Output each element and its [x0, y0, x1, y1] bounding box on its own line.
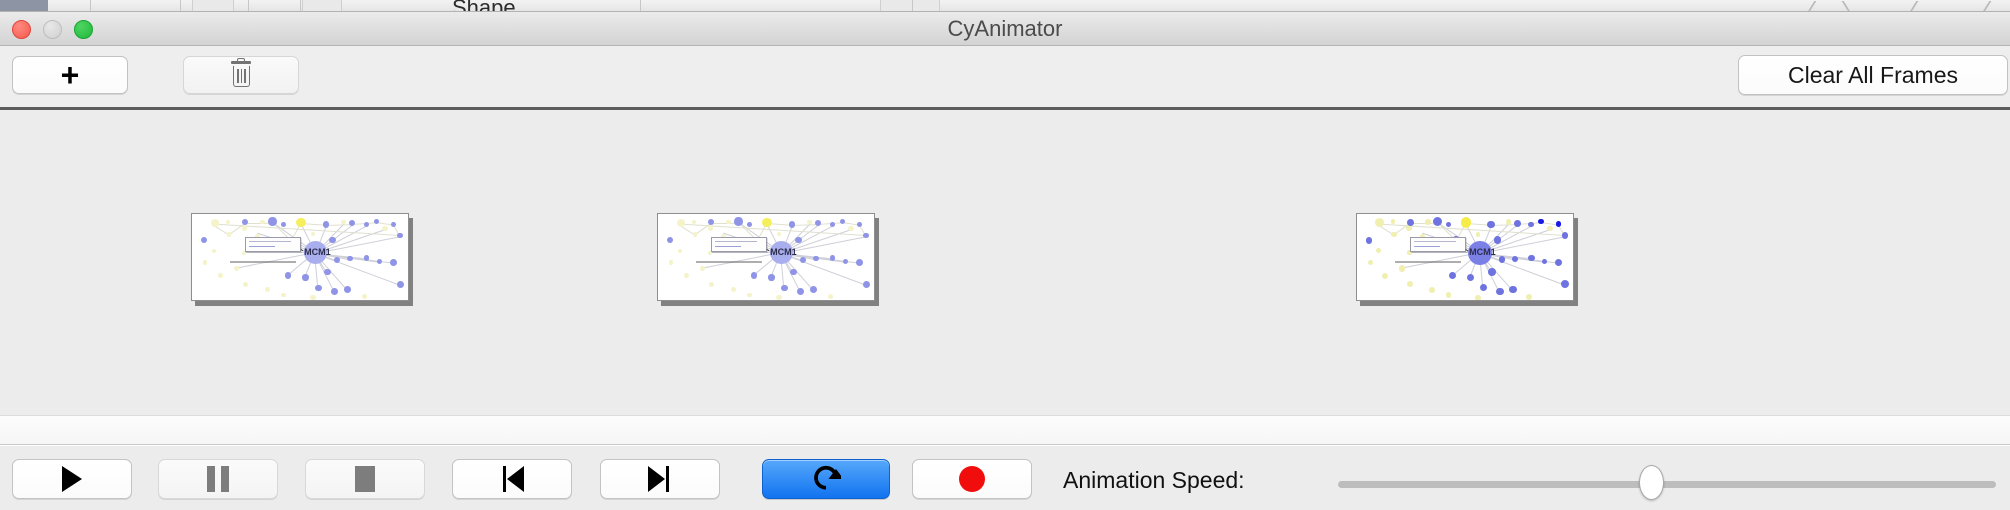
network-node — [677, 219, 685, 227]
network-node — [296, 218, 305, 227]
network-node — [828, 294, 833, 299]
network-node — [1528, 222, 1534, 228]
network-node — [1494, 236, 1502, 244]
network-node — [1366, 237, 1373, 244]
network-node — [1476, 232, 1481, 237]
network-node — [242, 219, 248, 225]
network-node — [1556, 221, 1561, 226]
network-node — [349, 220, 355, 226]
network-hub-label: MCM1 — [770, 247, 797, 257]
skip-previous-icon — [499, 466, 525, 492]
network-node — [800, 257, 806, 263]
network-node — [1425, 219, 1430, 224]
network-node — [709, 282, 714, 287]
network-node — [1547, 226, 1553, 232]
network-node — [203, 260, 207, 264]
network-node — [362, 294, 367, 299]
network-node — [678, 249, 682, 253]
network-node — [1449, 272, 1456, 279]
network-node — [212, 249, 216, 253]
animation-speed-label: Animation Speed: — [1063, 467, 1245, 494]
network-node — [1509, 286, 1517, 294]
network-node — [863, 233, 869, 239]
delete-frame-button[interactable] — [183, 56, 299, 94]
cyanimator-window: Shape CyAnimator + Clear All — [0, 0, 2010, 510]
network-tooltip-box — [711, 237, 767, 252]
network-node — [1542, 259, 1548, 265]
network-hub-label: MCM1 — [1469, 247, 1496, 257]
plus-icon: + — [61, 59, 80, 91]
clear-all-frames-button[interactable]: Clear All Frames — [1738, 55, 2008, 95]
network-node — [1375, 218, 1384, 227]
network-node — [331, 288, 338, 295]
network-node — [1382, 273, 1388, 279]
network-node — [1368, 260, 1373, 265]
timeline-frame-thumbnail[interactable]: MCM1 — [191, 213, 409, 301]
timeline-panel[interactable]: MCM1MCM1MCM1 2131415161718 Seconds — [0, 110, 2010, 415]
network-node — [840, 219, 845, 224]
network-node — [1487, 221, 1494, 228]
network-node — [1528, 255, 1534, 261]
network-node — [693, 232, 698, 237]
network-node — [708, 219, 714, 225]
network-node — [731, 287, 736, 292]
maximize-button[interactable] — [74, 20, 93, 39]
network-node — [397, 281, 404, 288]
stop-icon — [355, 466, 375, 492]
play-icon — [62, 466, 82, 492]
network-node — [776, 295, 781, 300]
skip-next-icon — [647, 466, 673, 492]
network-tooltip-box — [245, 237, 301, 252]
pause-icon — [207, 466, 229, 492]
network-node — [344, 286, 351, 293]
network-node — [211, 219, 219, 227]
network-node — [1496, 288, 1504, 296]
network-node — [1480, 284, 1487, 291]
record-button[interactable] — [912, 459, 1032, 499]
horizontal-scrollbar-track[interactable] — [0, 415, 2010, 445]
network-node — [364, 255, 370, 261]
play-button[interactable] — [12, 459, 132, 499]
skip-next-button[interactable] — [600, 459, 720, 499]
network-node — [781, 285, 787, 291]
timeline-frame-thumbnail[interactable]: MCM1 — [1356, 213, 1574, 301]
network-node — [1407, 281, 1413, 287]
network-node — [1475, 295, 1481, 301]
network-node — [268, 217, 276, 225]
network-node — [810, 286, 817, 293]
close-button[interactable] — [12, 20, 31, 39]
network-node — [315, 285, 321, 291]
network-node — [310, 295, 315, 300]
top-toolbar — [0, 46, 2010, 108]
loop-icon — [811, 464, 841, 494]
network-node — [1461, 217, 1471, 227]
clear-all-frames-label: Clear All Frames — [1788, 62, 1958, 89]
network-node — [684, 273, 689, 278]
network-node — [797, 288, 804, 295]
network-node — [856, 259, 863, 266]
network-node — [281, 293, 286, 298]
network-node — [848, 226, 853, 231]
network-node — [324, 269, 331, 276]
network-node — [1512, 256, 1518, 262]
network-node — [789, 221, 795, 227]
network-graph: MCM1 — [192, 214, 408, 300]
network-node — [1406, 225, 1412, 231]
network-node — [747, 222, 752, 227]
network-node — [281, 222, 286, 227]
network-node — [391, 222, 396, 227]
skip-previous-button[interactable] — [452, 459, 572, 499]
network-node — [218, 273, 223, 278]
network-node — [813, 256, 818, 261]
network-node — [830, 222, 835, 227]
traffic-light-group — [12, 20, 93, 39]
network-node — [1562, 232, 1568, 238]
network-hub-label: MCM1 — [304, 247, 331, 257]
network-node — [227, 232, 232, 237]
network-node — [311, 232, 315, 236]
network-node — [377, 259, 382, 264]
trash-icon — [229, 61, 253, 89]
network-node — [201, 237, 207, 243]
network-node — [751, 272, 757, 278]
network-node — [390, 259, 397, 266]
network-node — [341, 220, 346, 225]
minimize-button[interactable] — [43, 20, 62, 39]
network-node — [265, 287, 270, 292]
network-node — [242, 225, 247, 230]
timeline-frame-thumbnail[interactable]: MCM1 — [657, 213, 875, 301]
network-node — [302, 274, 308, 280]
network-node — [830, 255, 836, 261]
loop-button[interactable] — [762, 459, 890, 499]
network-node — [1526, 294, 1532, 300]
network-node — [708, 225, 713, 230]
network-node — [843, 259, 848, 264]
stop-button[interactable] — [305, 459, 425, 499]
network-node — [807, 220, 812, 225]
network-node — [334, 257, 340, 263]
network-node — [857, 222, 862, 227]
network-node — [374, 219, 379, 224]
network-node — [777, 232, 781, 236]
network-node — [323, 221, 329, 227]
network-node — [226, 220, 230, 224]
record-icon — [959, 466, 985, 492]
window-title: CyAnimator — [0, 12, 2010, 46]
network-node — [1506, 219, 1511, 224]
network-node — [364, 222, 369, 227]
network-graph: MCM1 — [1357, 214, 1573, 300]
network-node — [1446, 292, 1451, 297]
network-node — [1399, 265, 1405, 271]
network-node — [397, 233, 403, 239]
network-node — [234, 266, 240, 272]
network-node — [669, 260, 673, 264]
network-node — [667, 237, 673, 243]
network-node — [1429, 287, 1435, 293]
network-tooltip-box — [1410, 237, 1466, 252]
network-node — [1514, 220, 1521, 227]
network-node — [1391, 232, 1396, 237]
network-node — [747, 293, 752, 298]
network-node — [1561, 280, 1569, 288]
network-node — [815, 220, 821, 226]
network-node — [382, 226, 387, 231]
network-caption — [230, 261, 295, 263]
animation-speed-slider-thumb[interactable] — [1639, 465, 1664, 500]
add-frame-button[interactable]: + — [12, 56, 128, 94]
network-node — [1488, 268, 1496, 276]
network-caption — [696, 261, 761, 263]
network-caption — [1395, 261, 1460, 263]
network-node — [863, 281, 870, 288]
network-graph: MCM1 — [658, 214, 874, 300]
network-node — [762, 218, 771, 227]
title-bar: CyAnimator — [0, 12, 2010, 46]
network-node — [1407, 219, 1414, 226]
network-node — [692, 220, 696, 224]
network-node — [1555, 259, 1563, 267]
network-node — [285, 272, 291, 278]
network-node — [1446, 222, 1451, 227]
network-node — [1376, 248, 1381, 253]
network-node — [790, 269, 797, 276]
pause-button[interactable] — [158, 459, 278, 499]
network-node — [734, 217, 742, 225]
animation-speed-slider-track[interactable] — [1338, 481, 1996, 488]
network-node — [1467, 274, 1474, 281]
network-node — [700, 266, 706, 272]
network-node — [768, 274, 774, 280]
network-node — [243, 282, 248, 287]
network-node — [347, 256, 352, 261]
